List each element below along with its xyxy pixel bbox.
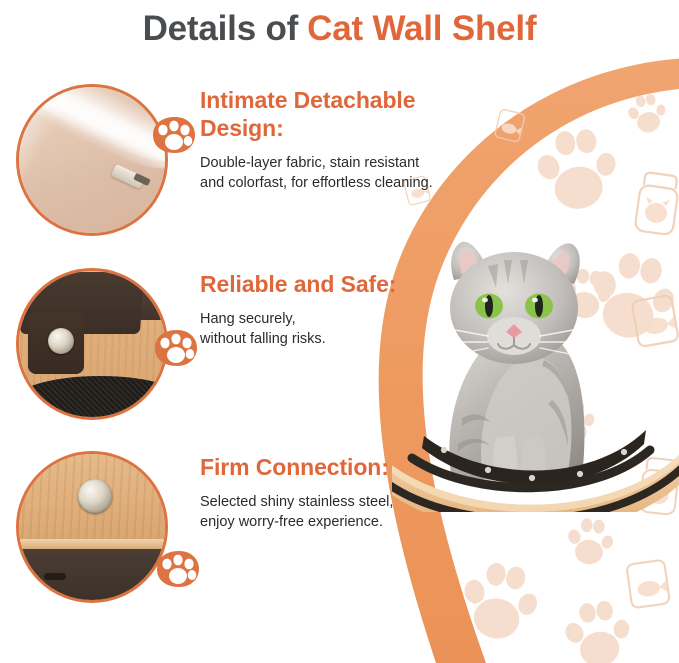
metal-bracket-screw-closeup-photo — [16, 268, 168, 420]
paw-icon — [155, 549, 201, 589]
stainless-steel-screw-closeup-photo — [16, 451, 168, 603]
feature-body: Double-layer fabric, stain resistant and… — [200, 154, 500, 194]
page-title: Details of Cat Wall Shelf — [0, 0, 679, 56]
feature-heading: Reliable and Safe: — [200, 270, 500, 298]
heading-line-1: Intimate Detachable — [200, 87, 415, 113]
heading-line-2: Design: — [200, 115, 284, 141]
wood-panel-texture — [16, 268, 168, 420]
heading-line-2: Safe: — [341, 271, 397, 297]
plate-underside — [16, 549, 168, 603]
feature-photo-wrap — [14, 449, 190, 611]
fabric-texture — [16, 84, 168, 236]
feature-heading: Firm Connection: — [200, 453, 500, 481]
mount-slot — [44, 573, 66, 580]
stainless-screw-head — [78, 479, 112, 513]
anti-slip-mesh — [16, 376, 168, 420]
feature-body: Hang securely, without falling risks. — [200, 310, 500, 350]
feature-text: Reliable and Safe: Hang securely, withou… — [200, 270, 500, 350]
paw-icon — [151, 115, 197, 155]
title-plain: Details of — [143, 11, 299, 46]
screw-head — [48, 328, 74, 354]
infographic-canvas: Details of Cat Wall Shelf — [0, 0, 679, 663]
feature-body: Selected shiny stainless steel, enjoy wo… — [200, 493, 500, 533]
fabric-zipper-closeup-photo — [16, 84, 168, 236]
heading-line-2: Connection: — [256, 454, 389, 480]
body-line-1: Double-layer fabric, stain resistant — [200, 154, 500, 174]
heading-line-1: Reliable and — [200, 271, 334, 297]
body-line-2: enjoy worry-free experience. — [200, 513, 500, 533]
body-line-2: without falling risks. — [200, 330, 500, 350]
body-line-1: Hang securely, — [200, 310, 500, 330]
wood-plate-edge — [16, 539, 168, 549]
feature-text: Firm Connection: Selected shiny stainles… — [200, 453, 500, 533]
paw-icon — [153, 328, 199, 368]
heading-line-1: Firm — [200, 454, 249, 480]
title-accent: Cat Wall Shelf — [307, 11, 536, 46]
body-line-2: and colorfast, for effortless cleaning. — [200, 174, 500, 194]
feature-heading: Intimate Detachable Design: — [200, 86, 500, 142]
feature-photo-wrap — [14, 266, 190, 428]
body-line-1: Selected shiny stainless steel, — [200, 493, 500, 513]
feature-photo-wrap — [14, 82, 190, 244]
wood-panel-texture — [16, 451, 168, 603]
feature-text: Intimate Detachable Design: Double-layer… — [200, 86, 500, 194]
